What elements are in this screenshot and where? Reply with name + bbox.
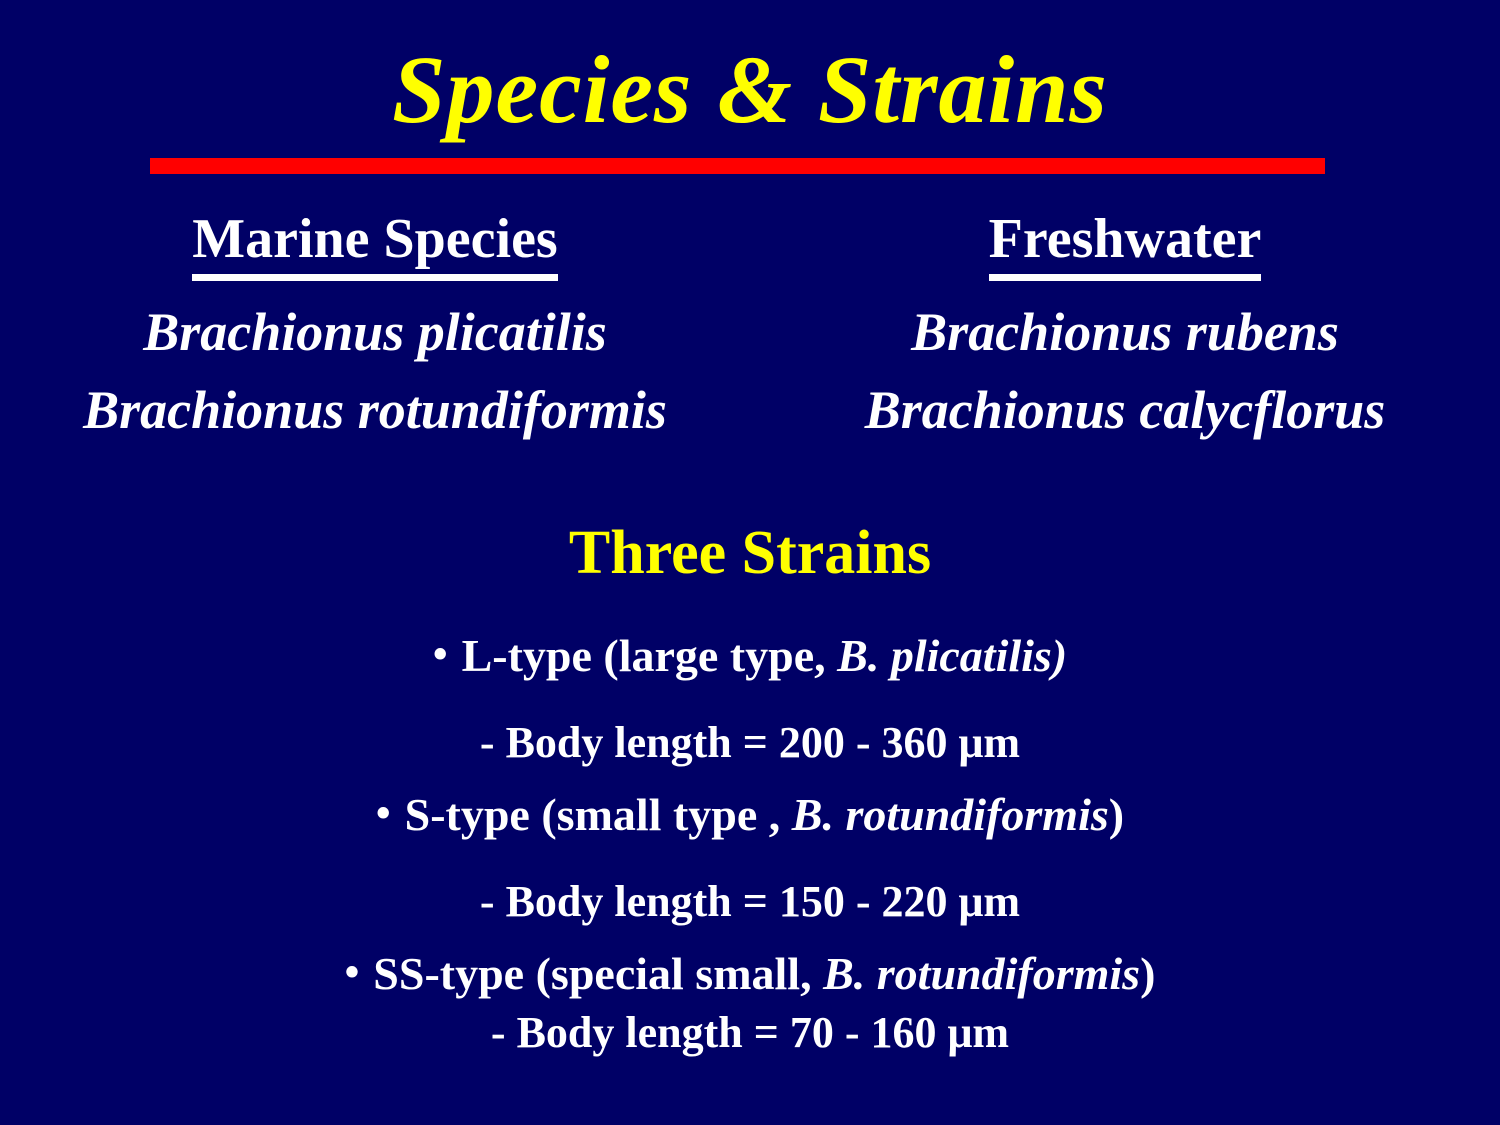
slide-title: Species & Strains — [0, 38, 1500, 142]
species-list-marine: Brachionus plicatilis Brachionus rotundi… — [0, 293, 750, 449]
strain-item-ss-type: •SS-type (special small, B. rotundiformi… — [0, 930, 1500, 1061]
column-marine: Marine Species Brachionus plicatilis Bra… — [0, 206, 750, 449]
strain-label-prefix: L-type (large type, — [462, 630, 838, 681]
column-heading-freshwater: Freshwater — [989, 206, 1262, 281]
species-list-freshwater: Brachionus rubens Brachionus calycflorus — [750, 293, 1500, 449]
strain-label: •L-type (large type, B. plicatilis) — [0, 612, 1500, 685]
strain-label-prefix: S-type (small type , — [405, 789, 792, 840]
strain-species-italic: B. plicatilis) — [837, 630, 1067, 681]
species-name: Brachionus calycflorus — [750, 371, 1500, 449]
column-freshwater: Freshwater Brachionus rubens Brachionus … — [750, 206, 1500, 449]
species-name: Brachionus rotundiformis — [0, 371, 750, 449]
strain-species-italic: B. rotundiformis — [792, 789, 1109, 840]
species-columns: Marine Species Brachionus plicatilis Bra… — [0, 206, 1500, 449]
bullet-icon: • — [376, 785, 391, 843]
strain-item-s-type: •S-type (small type , B. rotundiformis) … — [0, 771, 1500, 930]
strain-label: •S-type (small type , B. rotundiformis) — [0, 771, 1500, 844]
column-heading-marine: Marine Species — [192, 206, 557, 281]
strain-body-length: - Body length = 200 - 360 μm — [0, 685, 1500, 771]
strains-list: •L-type (large type, B. plicatilis) - Bo… — [0, 612, 1500, 1061]
strain-label-prefix: SS-type (special small, — [373, 948, 823, 999]
strain-label: •SS-type (special small, B. rotundiformi… — [0, 930, 1500, 1003]
strain-label-suffix: ) — [1109, 789, 1124, 840]
bullet-icon: • — [345, 944, 360, 1002]
strain-species-italic: B. rotundiformis — [823, 948, 1140, 999]
species-name: Brachionus rubens — [750, 293, 1500, 371]
strain-body-length: - Body length = 150 - 220 μm — [0, 844, 1500, 930]
strain-body-length: - Body length = 70 - 160 μm — [0, 1003, 1500, 1061]
title-divider-rule — [150, 158, 1325, 174]
strains-section-heading: Three Strains — [0, 516, 1500, 590]
slide-canvas: Species & Strains Marine Species Brachio… — [0, 0, 1500, 1125]
strain-label-suffix: ) — [1140, 948, 1155, 999]
strain-item-l-type: •L-type (large type, B. plicatilis) - Bo… — [0, 612, 1500, 771]
bullet-icon: • — [433, 626, 448, 684]
species-name: Brachionus plicatilis — [0, 293, 750, 371]
